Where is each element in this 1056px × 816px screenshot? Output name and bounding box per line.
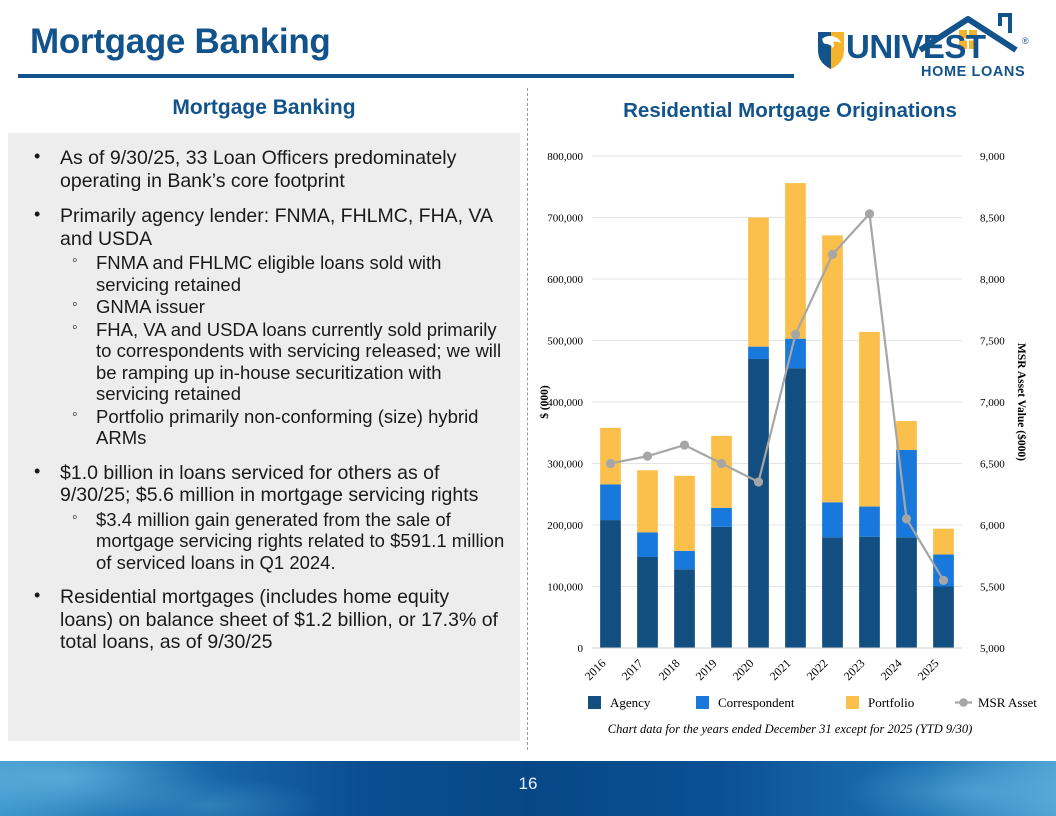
bar-segment-correspondent: [637, 532, 658, 557]
page-number: 16: [0, 774, 1056, 794]
msr-asset-marker: [939, 576, 948, 585]
slide: Mortgage Banking UNIVEST ® HOME LOANS: [0, 0, 1056, 816]
y-axis-tick-label: 200,000: [547, 520, 583, 532]
msr-asset-marker: [865, 209, 874, 218]
bar-segment-portfolio: [859, 332, 880, 507]
legend-swatch-correspondent: [696, 696, 709, 709]
logo-svg: UNIVEST ® HOME LOANS: [810, 12, 1036, 84]
bar-segment-agency: [896, 537, 917, 648]
bar-segment-portfolio: [674, 476, 695, 551]
bullet-item: $1.0 billion in loans serviced for other…: [22, 462, 506, 574]
x-axis-tick-label: 2020: [730, 656, 757, 683]
bullet-item: As of 9/30/25, 33 Loan Officers predomin…: [22, 147, 506, 192]
msr-asset-marker: [717, 459, 726, 468]
bullet-item: Residential mortgages (includes home equ…: [22, 586, 506, 654]
y2-axis-tick-label: 6,000: [980, 520, 1005, 532]
x-axis-tick-label: 2016: [582, 656, 609, 683]
footer-bar: 16: [0, 761, 1056, 816]
y-axis-tick-label: 700,000: [547, 213, 583, 225]
msr-asset-marker: [606, 459, 615, 468]
sub-bullet-item: FNMA and FHLMC eligible loans sold with …: [60, 252, 506, 295]
sub-bullet-text: GNMA issuer: [96, 296, 205, 317]
bar-segment-agency: [674, 569, 695, 648]
bar-segment-agency: [748, 359, 769, 648]
bar-segment-correspondent: [859, 507, 880, 537]
msr-asset-marker: [643, 452, 652, 461]
sub-bullet-list: $3.4 million gain generated from the sal…: [60, 509, 506, 573]
bullet-list: As of 9/30/25, 33 Loan Officers predomin…: [8, 133, 520, 654]
sub-bullet-text: FNMA and FHLMC eligible loans sold with …: [96, 252, 441, 294]
msr-asset-marker: [902, 514, 911, 523]
y2-axis-tick-label: 7,000: [980, 397, 1005, 409]
legend-label-portfolio: Portfolio: [868, 695, 914, 710]
sub-bullet-text: Portfolio primarily non-conforming (size…: [96, 406, 478, 448]
sub-bullet-item: Portfolio primarily non-conforming (size…: [60, 406, 506, 449]
y-axis-tick-label: 500,000: [547, 336, 583, 348]
legend-label-msr-asset: MSR Asset: [978, 695, 1037, 710]
x-axis-tick-label: 2021: [767, 656, 794, 683]
legend-marker-msr: [959, 698, 968, 707]
y-axis-tick-label: 800,000: [547, 151, 583, 163]
bar-segment-portfolio: [600, 428, 621, 485]
bullet-text: $1.0 billion in loans serviced for other…: [60, 462, 478, 507]
bar-segment-portfolio: [748, 218, 769, 347]
sub-bullet-item: $3.4 million gain generated from the sal…: [60, 509, 506, 573]
y-axis-tick-label: 600,000: [547, 274, 583, 286]
bullet-text: Primarily agency lender: FNMA, FHLMC, FH…: [60, 205, 492, 250]
x-axis-tick-label: 2022: [804, 656, 831, 683]
legend-swatch-agency: [588, 696, 601, 709]
bar-segment-portfolio: [711, 436, 732, 508]
chart-svg: 0100,000200,000300,000400,000500,000600,…: [530, 138, 1050, 758]
bar-segment-agency: [933, 587, 954, 649]
logo-tagline-text: HOME LOANS: [921, 64, 1025, 80]
bar-segment-agency: [785, 368, 806, 648]
chart-title: Residential Mortgage Originations: [530, 99, 1050, 123]
x-axis-tick-label: 2017: [619, 656, 646, 683]
bar-segment-portfolio: [933, 529, 954, 555]
x-axis-tick-label: 2023: [841, 656, 868, 683]
msr-asset-marker: [828, 250, 837, 259]
y-axis-tick-label: 400,000: [547, 397, 583, 409]
title-underline-rule: [18, 74, 794, 78]
msr-asset-marker: [791, 330, 800, 339]
x-axis-tick-label: 2025: [915, 656, 942, 683]
y2-axis-tick-label: 9,000: [980, 151, 1005, 163]
x-axis-tick-label: 2024: [878, 656, 905, 683]
bar-segment-correspondent: [600, 484, 621, 520]
x-axis-tick-label: 2018: [656, 656, 683, 683]
sub-bullet-text: FHA, VA and USDA loans currently sold pr…: [96, 319, 501, 404]
logo-registered-mark: ®: [1022, 36, 1029, 46]
sub-bullet-item: GNMA issuer: [60, 296, 506, 317]
y2-axis-tick-label: 7,500: [980, 336, 1005, 348]
legend-label-correspondent: Correspondent: [718, 695, 795, 710]
bar-segment-portfolio: [785, 183, 806, 339]
bar-segment-agency: [637, 557, 658, 648]
bar-segment-correspondent: [822, 502, 843, 537]
left-panel-heading: Mortgage Banking: [8, 96, 520, 120]
bar-segment-portfolio: [896, 421, 917, 450]
bar-segment-agency: [600, 520, 621, 648]
bar-segment-correspondent: [674, 551, 695, 569]
msr-asset-marker: [754, 477, 763, 486]
sub-bullet-item: FHA, VA and USDA loans currently sold pr…: [60, 319, 506, 405]
legend-label-agency: Agency: [610, 695, 651, 710]
bar-segment-correspondent: [711, 508, 732, 527]
y-axis-tick-label: 300,000: [547, 459, 583, 471]
logo-brand-text: UNIVEST: [846, 28, 986, 65]
bar-segment-agency: [711, 527, 732, 648]
bar-segment-agency: [822, 537, 843, 648]
chart-plot-area: 0100,000200,000300,000400,000500,000600,…: [530, 138, 1050, 758]
y2-axis-tick-label: 8,000: [980, 274, 1005, 286]
y2-axis-tick-label: 8,500: [980, 213, 1005, 225]
bar-segment-portfolio: [637, 470, 658, 532]
bar-segment-portfolio: [822, 235, 843, 502]
y-axis-tick-label: 100,000: [547, 582, 583, 594]
chart-panel: Residential Mortgage Originations 0100,0…: [530, 90, 1050, 760]
sub-bullet-text: $3.4 million gain generated from the sal…: [96, 509, 504, 573]
y2-axis-tick-label: 6,500: [980, 459, 1005, 471]
msr-asset-marker: [680, 440, 689, 449]
bullet-item: Primarily agency lender: FNMA, FHLMC, FH…: [22, 205, 506, 448]
y-axis-tick-label: 0: [578, 643, 584, 655]
bar-segment-correspondent: [748, 347, 769, 359]
chart-footnote: Chart data for the years ended December …: [530, 722, 1050, 737]
legend-swatch-portfolio: [846, 696, 859, 709]
bullet-text: As of 9/30/25, 33 Loan Officers predomin…: [60, 147, 456, 192]
sub-bullet-list: FNMA and FHLMC eligible loans sold with …: [60, 252, 506, 448]
y2-axis-title: MSR Asset Value ($000): [1015, 343, 1028, 461]
y2-axis-tick-label: 5,000: [980, 643, 1005, 655]
y-axis-title: $ (000): [538, 385, 551, 419]
page-title: Mortgage Banking: [30, 22, 331, 62]
bar-segment-agency: [859, 537, 880, 648]
shield-eagle-icon: [818, 32, 844, 69]
bullet-text: Residential mortgages (includes home equ…: [60, 586, 498, 653]
univest-home-loans-logo: UNIVEST ® HOME LOANS: [810, 12, 1036, 84]
y2-axis-tick-label: 5,500: [980, 582, 1005, 594]
panel-divider: [527, 88, 528, 750]
x-axis-tick-label: 2019: [693, 656, 720, 683]
